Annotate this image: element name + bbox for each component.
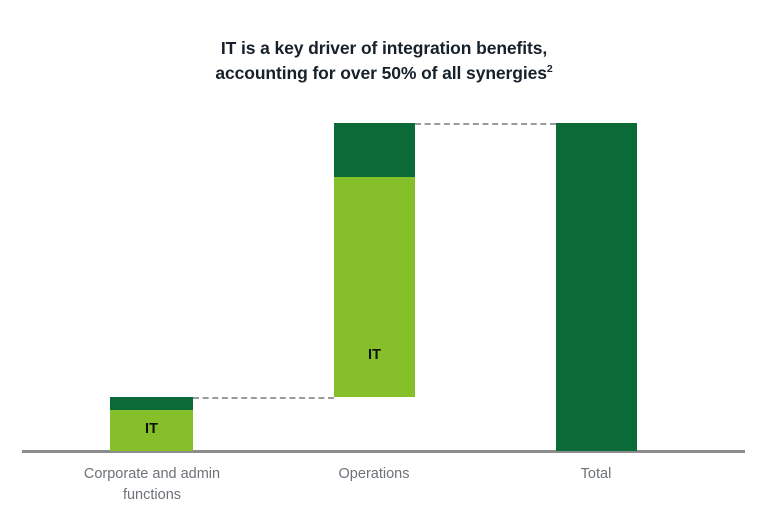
x-axis-label-corporate-line-1: Corporate and admin [42, 464, 262, 485]
x-axis-label-corporate-line-2: functions [42, 485, 262, 506]
bar-total[interactable] [556, 123, 637, 451]
connector-operations-to-total [415, 123, 556, 125]
bar-segment-other-operations[interactable] [334, 123, 415, 177]
x-axis-label-operations-line-1: Operations [289, 464, 459, 485]
x-axis-label-total: Total [521, 464, 671, 485]
connector-corporate-to-operations [193, 397, 334, 399]
bar-segment-it-corporate[interactable] [110, 410, 193, 451]
slide-canvas: IT is a key driver of integration benefi… [0, 0, 768, 517]
bar-operations[interactable]: IT [334, 123, 415, 397]
x-axis-label-operations: Operations [289, 464, 459, 485]
chart-plot-area: IT IT Corporate and admin functions Oper… [0, 0, 768, 517]
bar-segment-total[interactable] [556, 123, 637, 451]
x-axis-label-corporate-and-admin-functions: Corporate and admin functions [42, 464, 262, 506]
x-axis-label-total-line-1: Total [521, 464, 671, 485]
bar-segment-it-operations[interactable] [334, 177, 415, 397]
bar-segment-other-corporate[interactable] [110, 397, 193, 410]
bar-corporate-and-admin-functions[interactable]: IT [110, 397, 193, 451]
